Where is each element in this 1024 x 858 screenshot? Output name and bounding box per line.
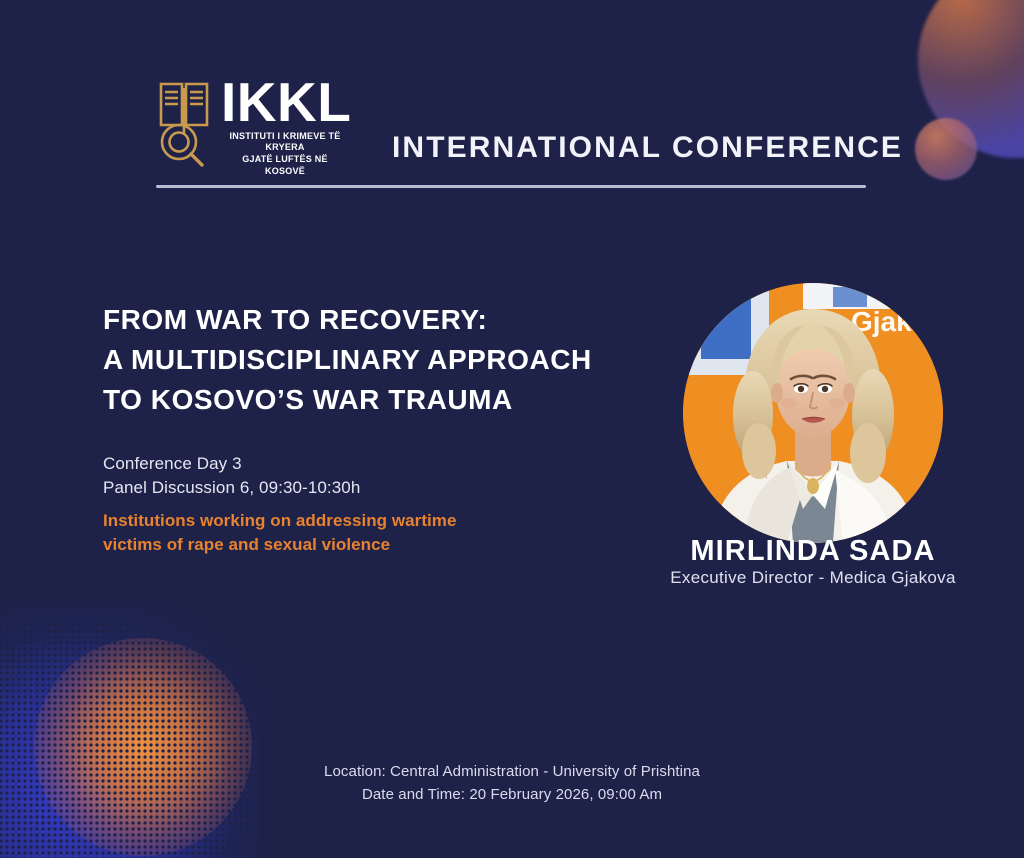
decorative-halftone-pattern: [0, 604, 258, 858]
conference-title: INTERNATIONAL CONFERENCE: [392, 131, 903, 165]
halftone-dot-grid: [0, 604, 258, 858]
footer-datetime: Date and Time: 20 February 2026, 09:00 A…: [0, 783, 1024, 806]
page-title-line2: A MULTIDISCIPLINARY APPROACH: [103, 340, 663, 380]
panel-discussion: Panel Discussion 6, 09:30-10:30h: [103, 476, 623, 500]
ikkl-subtitle-line2: GJATË LUFTËS NË KOSOVË: [221, 154, 349, 178]
panel-topic: Institutions working on addressing warti…: [103, 509, 623, 557]
conference-poster: IKKL INSTITUTI I KRIMEVE TË KRYERA GJATË…: [0, 0, 1024, 858]
poster-footer: Location: Central Administration - Unive…: [0, 760, 1024, 807]
book-magnifier-icon: [156, 76, 212, 168]
ikkl-logo: IKKL INSTITUTI I KRIMEVE TË KRYERA GJATË…: [156, 76, 351, 178]
speaker-name: MIRLINDA SADA: [633, 535, 993, 568]
page-title-line1: FROM WAR TO RECOVERY:: [103, 300, 663, 340]
ikkl-wordmark: IKKL: [221, 77, 351, 128]
session-details: Conference Day 3 Panel Discussion 6, 09:…: [103, 452, 623, 557]
header-divider: [156, 185, 866, 188]
footer-location: Location: Central Administration - Unive…: [0, 760, 1024, 783]
poster-header: IKKL INSTITUTI I KRIMEVE TË KRYERA GJATË…: [0, 72, 1024, 184]
page-title-line3: TO KOSOVO’S WAR TRAUMA: [103, 380, 663, 420]
ikkl-logo-text: IKKL INSTITUTI I KRIMEVE TË KRYERA GJATË…: [221, 76, 351, 178]
panel-topic-line1: Institutions working on addressing warti…: [103, 509, 623, 533]
speaker-role: Executive Director - Medica Gjakova: [633, 568, 993, 588]
conference-day: Conference Day 3: [103, 452, 623, 476]
ikkl-subtitle: INSTITUTI I KRIMEVE TË KRYERA GJATË LUFT…: [221, 131, 349, 179]
speaker-portrait: Gjako: [683, 283, 943, 543]
ikkl-subtitle-line1: INSTITUTI I KRIMEVE TË KRYERA: [221, 131, 349, 155]
panel-topic-line2: victims of rape and sexual violence: [103, 533, 623, 557]
page-title: FROM WAR TO RECOVERY: A MULTIDISCIPLINAR…: [103, 300, 663, 419]
